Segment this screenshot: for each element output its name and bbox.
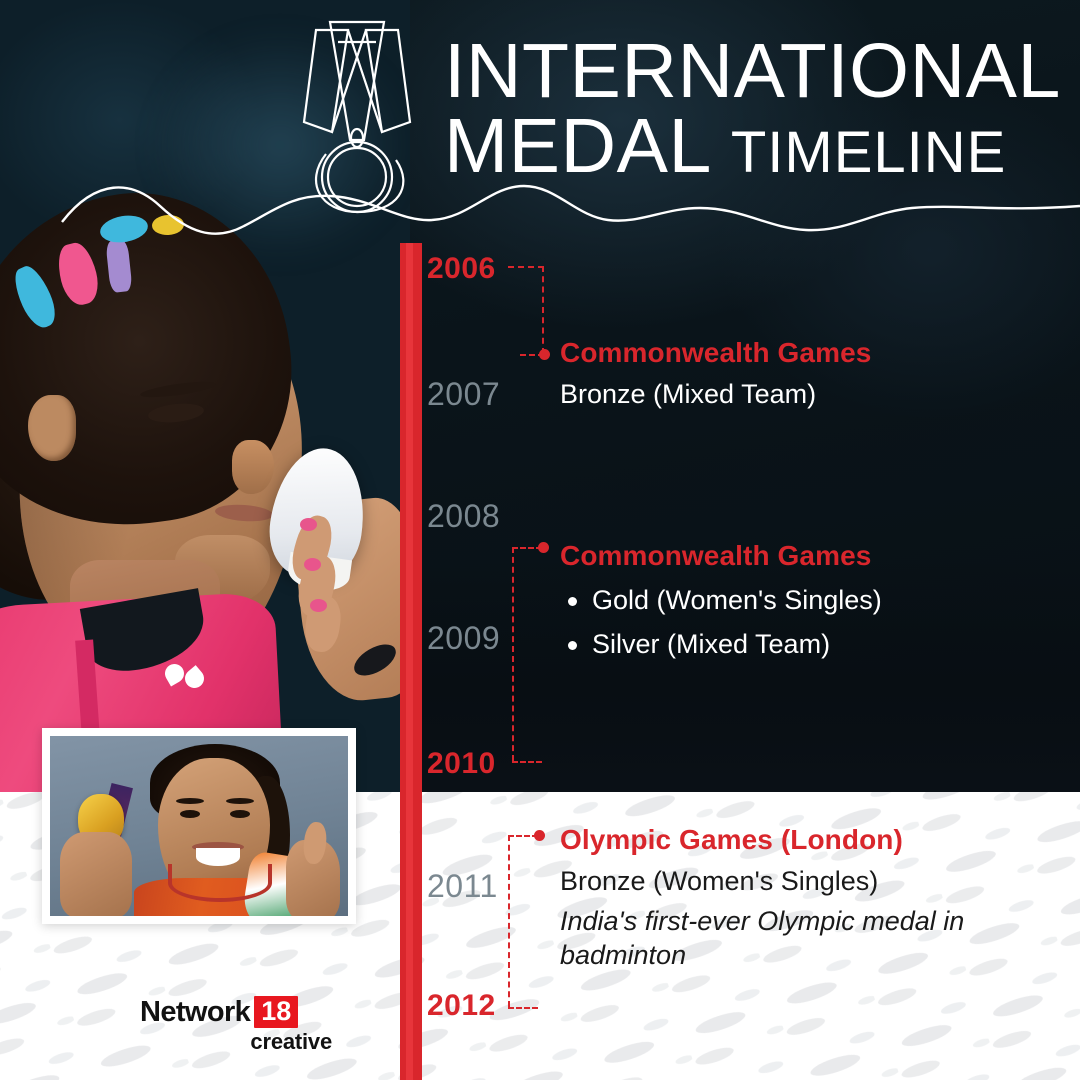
entry-subtitle-2012: Bronze (Women's Singles): [560, 863, 1000, 899]
timeline-spine-highlight: [406, 243, 413, 1080]
title-line-2: MEDAL TIMELINE: [444, 110, 1064, 183]
nail-2: [304, 558, 321, 571]
timeline-entry-2010: Commonwealth Games Gold (Women's Singles…: [560, 541, 882, 661]
inset-eye-left: [180, 810, 200, 818]
entry-title-2006: Commonwealth Games: [560, 338, 871, 369]
infographic-poster: INTERNATIONAL MEDAL TIMELINE 2006 2007 2…: [0, 0, 1080, 1080]
title-line-1: INTERNATIONAL: [444, 38, 1064, 106]
year-label-2007[interactable]: 2007: [427, 376, 500, 413]
inset-hand-holding-medal: [60, 832, 132, 916]
entry-bullet-2010-2: Silver (Mixed Team): [560, 628, 882, 660]
year-label-2008[interactable]: 2008: [427, 498, 500, 535]
entry-title-2010: Commonwealth Games: [560, 541, 882, 572]
page-title: INTERNATIONAL MEDAL TIMELINE: [444, 38, 1064, 183]
entry-bullet-2010-1: Gold (Women's Singles): [560, 584, 882, 616]
logo-main-row: Network 18: [140, 996, 360, 1028]
title-timeline-word: TIMELINE: [731, 120, 1007, 185]
year-label-2011[interactable]: 2011: [427, 868, 498, 905]
title-medal-word: MEDAL: [444, 103, 709, 189]
player-ear: [28, 395, 76, 461]
year-label-2009[interactable]: 2009: [427, 620, 500, 657]
connector-2012: [502, 833, 566, 1013]
inset-medal-photo: [50, 736, 348, 916]
year-label-2012[interactable]: 2012: [427, 989, 496, 1023]
inset-eye-right: [230, 810, 250, 818]
timeline-entry-2012: Olympic Games (London) Bronze (Women's S…: [560, 825, 1000, 973]
connector-2006: [508, 266, 568, 356]
year-label-2010[interactable]: 2010: [427, 747, 496, 781]
entry-title-2012: Olympic Games (London): [560, 825, 1000, 856]
nail-1: [300, 518, 317, 531]
inset-eyebrow-left: [176, 798, 204, 804]
nail-3: [310, 599, 327, 612]
inset-eyebrow-right: [226, 798, 254, 804]
inset-lanyard: [168, 864, 272, 902]
yonex-logo-icon: [165, 660, 209, 690]
entry-note-2012: India's first-ever Olympic medal in badm…: [560, 905, 1000, 973]
inset-medal-photo-frame: [42, 728, 356, 924]
timeline-entry-2006: Commonwealth Games Bronze (Mixed Team): [560, 338, 871, 412]
logo-word: Network: [140, 998, 250, 1027]
logo-number-badge: 18: [254, 996, 298, 1028]
year-label-2006[interactable]: 2006: [427, 252, 496, 286]
network18-creative-logo[interactable]: Network 18 creative: [140, 996, 360, 1054]
entry-subtitle-2006: Bronze (Mixed Team): [560, 376, 871, 412]
logo-tagline: creative: [140, 1031, 332, 1053]
